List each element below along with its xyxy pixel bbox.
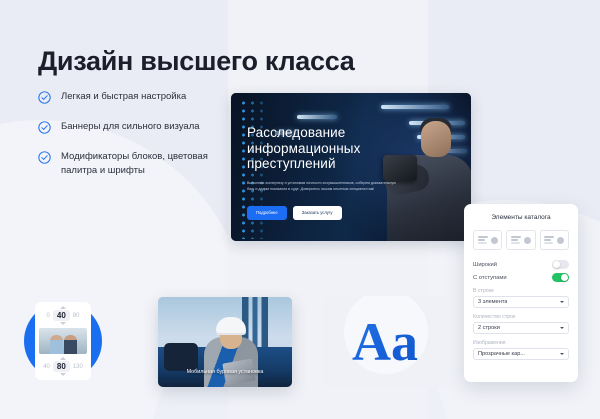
toggle-padding[interactable] — [552, 273, 569, 282]
text-lines-icon — [544, 236, 554, 244]
picker-top-option-max[interactable]: 80 — [73, 313, 80, 319]
picker-bottom-selected[interactable]: 80 — [53, 361, 70, 372]
list-item: Легкая и быстрая настройка — [38, 90, 223, 104]
toggle-wide[interactable] — [552, 260, 569, 269]
catalog-elements-panel[interactable]: Элементы каталога Широкий С отступами В … — [464, 204, 578, 382]
toggle-row-wide: Широкий — [473, 260, 569, 269]
spinner-up-icon[interactable] — [60, 306, 66, 309]
chevron-down-icon — [560, 301, 564, 303]
banner-subtitle: Выполним экспертизу и установим личности… — [247, 180, 399, 192]
picker-thumbnail-photo — [39, 328, 87, 354]
layout-preset-option-2[interactable] — [506, 230, 535, 250]
panel-title: Элементы каталога — [473, 214, 569, 221]
chevron-down-icon — [560, 327, 564, 329]
circle-thumb-icon — [524, 237, 531, 244]
toggle-label-wide: Широкий — [473, 262, 497, 268]
check-circle-icon — [38, 151, 51, 164]
rig-card-caption: Мобильная буровая установка — [158, 369, 292, 375]
page-title: Дизайн высшего класса — [38, 46, 355, 77]
select-images-value: Прозрачные кар... — [478, 351, 525, 357]
select-row-count[interactable]: 2 строки — [473, 322, 569, 334]
picker-top-row: 0 40 80 — [47, 310, 80, 321]
safety-helmet-icon — [216, 317, 246, 333]
worker-figure — [200, 311, 262, 387]
ceiling-light — [381, 105, 449, 109]
check-circle-icon — [38, 91, 51, 104]
text-lines-icon — [511, 236, 521, 244]
banner-button-group: Подробнее Заказать услугу — [247, 206, 342, 220]
picker-top-selected[interactable]: 40 — [53, 310, 70, 321]
banner-title: Расследование информационных преступлени… — [247, 125, 391, 172]
list-item: Баннеры для сильного визуала — [38, 120, 223, 134]
picker-bottom-option-max[interactable]: 130 — [73, 364, 83, 370]
chevron-down-icon — [560, 353, 564, 355]
feature-list: Легкая и быстрая настройка Баннеры для с… — [38, 90, 223, 194]
list-item: Модификаторы блоков, цветовая палитра и … — [38, 150, 223, 178]
select-per-row[interactable]: 3 элемента — [473, 296, 569, 308]
banner-person-photo — [381, 115, 471, 241]
layout-preset-option-3[interactable] — [540, 230, 569, 250]
typography-sample-glyphs: Aa — [322, 296, 448, 388]
layout-preset-option-1[interactable] — [473, 230, 502, 250]
picker-bottom-option-min[interactable]: 40 — [43, 364, 50, 370]
picker-top-option-min[interactable]: 0 — [47, 313, 50, 319]
picker-body: 0 40 80 40 80 130 — [35, 302, 91, 380]
drilling-rig-card[interactable]: Мобильная буровая установка — [158, 297, 292, 387]
layout-preset-group — [473, 230, 569, 250]
field-label-images: Изображения — [473, 340, 569, 346]
field-label-row-count: Количество строк — [473, 314, 569, 320]
banner-order-service-button[interactable]: Заказать услугу — [293, 206, 342, 220]
circle-thumb-icon — [557, 237, 564, 244]
field-label-per-row: В строке — [473, 288, 569, 294]
toggle-label-padding: С отступами — [473, 275, 507, 281]
feature-text: Модификаторы блоков, цветовая палитра и … — [61, 150, 223, 178]
ceiling-light — [297, 115, 337, 119]
select-row-count-value: 2 строки — [478, 325, 500, 331]
check-circle-icon — [38, 121, 51, 134]
feature-text: Баннеры для сильного визуала — [61, 120, 200, 134]
spinner-down-icon[interactable] — [60, 322, 66, 325]
toggle-row-padding: С отступами — [473, 273, 569, 282]
typography-card[interactable]: Aa — [322, 296, 448, 388]
spinner-up-icon[interactable] — [60, 357, 66, 360]
server-rack-lights — [241, 99, 246, 239]
select-per-row-value: 3 элемента — [478, 299, 507, 305]
spinner-down-icon[interactable] — [60, 373, 66, 376]
banner-details-button[interactable]: Подробнее — [247, 206, 287, 220]
circle-thumb-icon — [491, 237, 498, 244]
banner-content: Расследование информационных преступлени… — [247, 125, 391, 192]
circular-number-picker[interactable]: 0 40 80 40 80 130 — [24, 302, 102, 380]
rig-drum — [164, 343, 198, 371]
feature-text: Легкая и быстрая настройка — [61, 90, 186, 104]
banner-preview-card[interactable]: Расследование информационных преступлени… — [231, 93, 471, 241]
text-lines-icon — [478, 236, 488, 244]
picker-bottom-row: 40 80 130 — [43, 361, 83, 372]
select-images[interactable]: Прозрачные кар... — [473, 348, 569, 360]
